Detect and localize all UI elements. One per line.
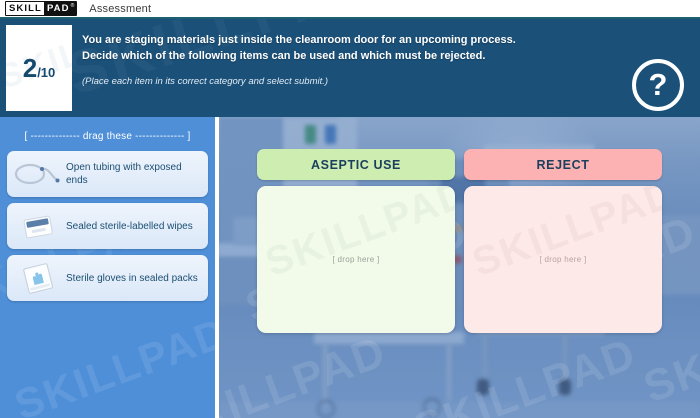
question-number: 2 <box>23 53 37 83</box>
column-title: ASEPTIC USE <box>311 158 401 172</box>
assessment-screen: SKILL PAD ® Assessment SKILLPAD SKILLPAD… <box>0 0 700 418</box>
drag-item-label: Sealed sterile-labelled wipes <box>66 220 199 233</box>
drag-item-sealed-wipes[interactable]: Sealed sterile-labelled wipes <box>7 203 208 249</box>
drag-item-sterile-gloves[interactable]: Sterile gloves in sealed packs <box>7 255 208 301</box>
dropzone-placeholder: [ drop here ] <box>539 255 586 264</box>
drag-item-label: Sterile gloves in sealed packs <box>66 272 204 285</box>
question-banner: SKILLPAD SKILLPAD 2/10 You are staging m… <box>0 19 700 117</box>
drag-these-label: [ -------------- drag these ------------… <box>0 131 215 142</box>
dropzone-reject[interactable]: SKILLPAD [ drop here ] <box>464 186 662 333</box>
dropzone-aseptic-use[interactable]: SKILLPAD [ drop here ] <box>257 186 455 333</box>
help-button[interactable]: ? <box>632 59 684 111</box>
drag-item-label: Open tubing with exposed ends <box>66 161 208 187</box>
activity-area: SKILLPAD SKILLPAD [ -------------- drag … <box>0 117 700 418</box>
drag-panel-watermark-1: SKILLPAD <box>9 308 215 418</box>
draggable-item-list: Open tubing with exposed ends Sealed ste… <box>0 151 215 301</box>
column-header-aseptic-use: ASEPTIC USE <box>257 149 455 180</box>
logo-pad-text: PAD <box>44 2 71 15</box>
panel-divider <box>215 117 219 418</box>
question-text-block: You are staging materials just inside th… <box>82 33 602 88</box>
tubing-icon <box>10 153 66 195</box>
app-title: Assessment <box>89 3 151 15</box>
question-counter-text: 2/10 <box>23 55 56 81</box>
logo-skill-text: SKILL <box>6 2 44 15</box>
top-bar: SKILL PAD ® Assessment <box>0 0 700 19</box>
column-aseptic-use: ASEPTIC USE SKILLPAD [ drop here ] <box>257 149 455 333</box>
wipes-packet-icon <box>10 205 66 247</box>
question-line-2: Decide which of the following items can … <box>82 49 602 65</box>
dropzone-placeholder: [ drop here ] <box>332 255 379 264</box>
glove-pack-icon <box>10 257 66 299</box>
drag-source-panel: SKILLPAD SKILLPAD [ -------------- drag … <box>0 117 215 418</box>
question-counter: SKILLPAD 2/10 <box>6 25 72 111</box>
drag-item-open-tubing[interactable]: Open tubing with exposed ends <box>7 151 208 197</box>
column-title: REJECT <box>537 158 590 172</box>
dropzone-watermark: SKILLPAD <box>467 186 662 286</box>
question-total: /10 <box>37 65 55 80</box>
question-hint: (Place each item in its correct category… <box>82 75 602 88</box>
skillpad-logo: SKILL PAD ® <box>5 1 77 16</box>
logo-trademark: ® <box>71 2 77 15</box>
column-reject: REJECT SKILLPAD [ drop here ] <box>464 149 662 333</box>
question-line-1: You are staging materials just inside th… <box>82 33 602 49</box>
question-mark-icon: ? <box>649 69 668 100</box>
column-header-reject: REJECT <box>464 149 662 180</box>
dropzone-watermark: SKILLPAD <box>260 186 455 286</box>
